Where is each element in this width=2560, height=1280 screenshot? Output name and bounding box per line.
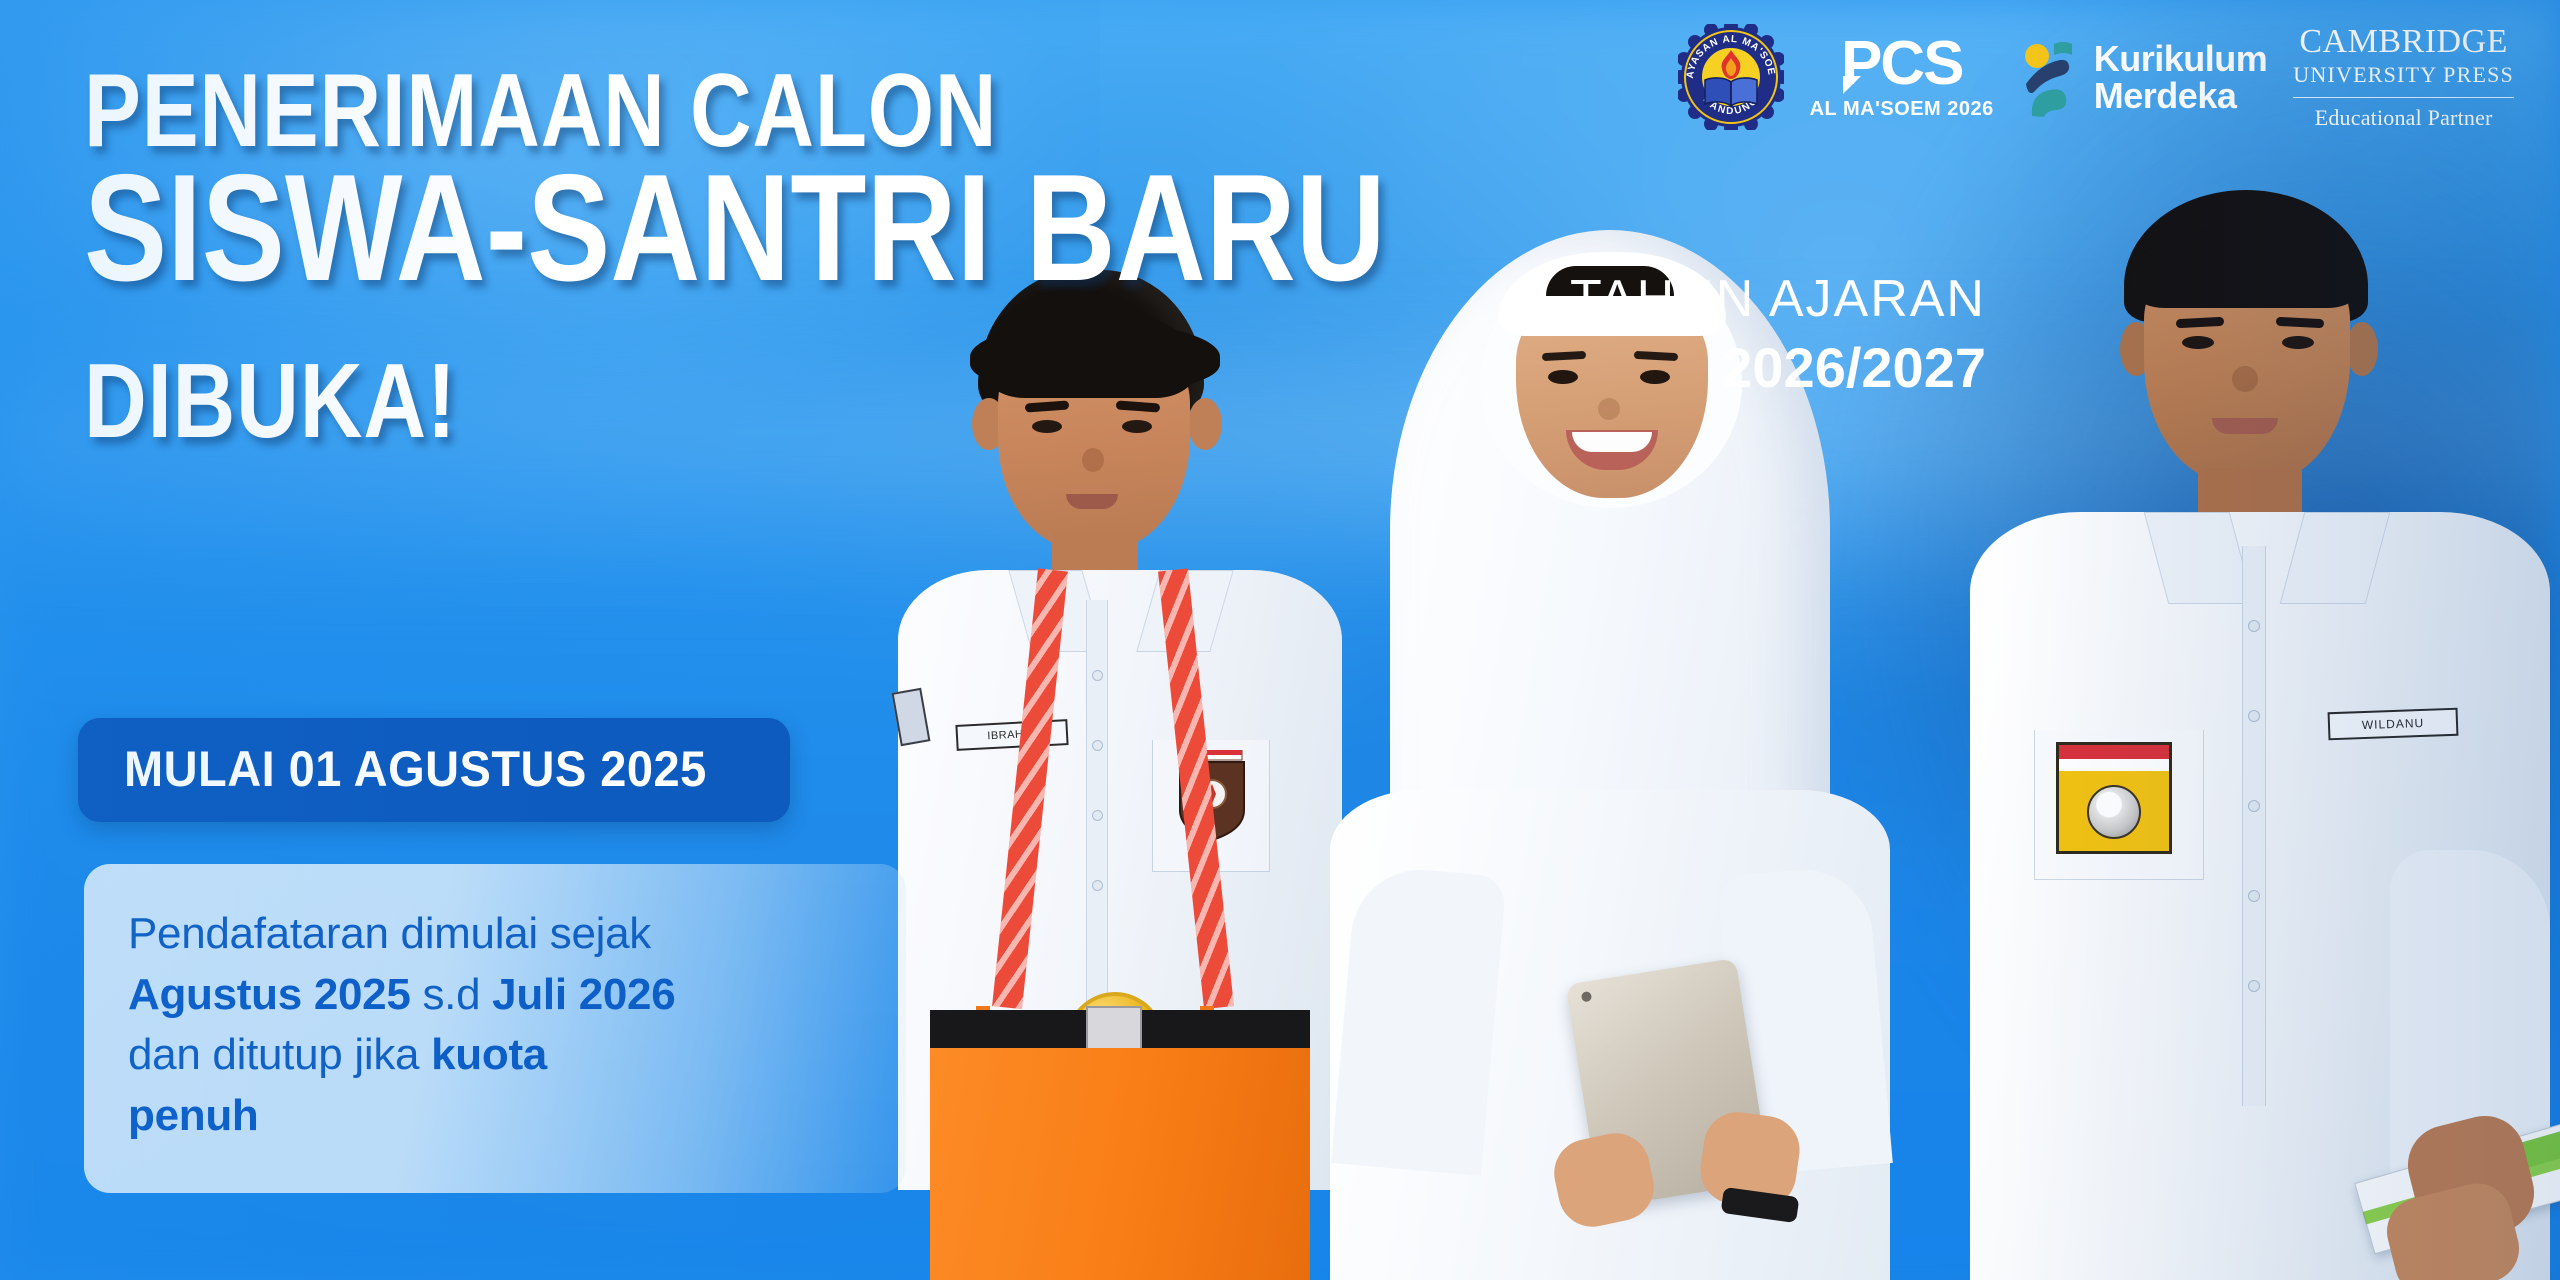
teen-shirt-button (2248, 800, 2260, 812)
teen-nose (2232, 366, 2258, 392)
cambridge-wordmark: CAMBRIDGE (2299, 24, 2508, 60)
partner-logo-bar: YAYASAN AL MA'SOEM BANDUNG PCS (1678, 24, 2514, 131)
boy-belt-buckle (1086, 1006, 1142, 1054)
teen-osis-badge (2056, 742, 2172, 854)
teen-name-tag-text: WILDANU (2330, 710, 2457, 738)
info-bold-kuota: kuota (431, 1030, 547, 1079)
teen-shirt-button (2248, 710, 2260, 722)
academic-year-label: TAHUN AJARAN (1570, 272, 1986, 327)
kurikulum-merdeka-logo: Kurikulum Merdeka (2020, 36, 2268, 118)
start-date-badge[interactable]: MULAI 01 AGUSTUS 2025 (78, 718, 790, 822)
boy-mouth (1066, 494, 1118, 509)
boy-nose (1082, 448, 1104, 472)
academic-year-block: TAHUN AJARAN 2026/2027 (1570, 272, 1986, 400)
registration-info-box: Pendafataran dimulai sejak Agustus 2025 … (84, 864, 906, 1193)
teen-name-tag: WILDANU (2328, 708, 2459, 741)
girl-arm-left (1331, 864, 1507, 1176)
info-bold-juli: Juli 2026 (492, 970, 675, 1019)
teen-hairline-fade (2128, 230, 2364, 308)
cambridge-university-press-logo: CAMBRIDGE UNIVERSITY PRESS Educational P… (2293, 24, 2514, 131)
kurikulum-merdeka-mark-icon (2020, 36, 2082, 118)
teen-mouth (2212, 418, 2278, 434)
promotional-banner: IBRAHIM (0, 0, 2560, 1280)
student-teen-boy-books: WILDANU (1960, 190, 2560, 1280)
registration-info-text: Pendafataran dimulai sejak Agustus 2025 … (128, 904, 862, 1147)
teen-shirt-button (2248, 890, 2260, 902)
pcs-subtitle: AL MA'SOEM 2026 (1810, 99, 1994, 119)
cambridge-subtitle: UNIVERSITY PRESS (2293, 62, 2514, 88)
teen-eye-left (2182, 336, 2214, 349)
teen-osis-badge-stripe-red (2059, 745, 2169, 759)
cambridge-divider (2293, 97, 2514, 98)
info-sd: s.d (411, 970, 493, 1019)
pcs-logo: PCS AL MA'SOEM 2026 (1810, 35, 1994, 119)
boy-shirt-button (1092, 740, 1103, 751)
info-line-1: Pendafataran dimulai sejak (128, 909, 651, 958)
boy-shorts (930, 1048, 1310, 1280)
info-line-3: dan ditutup jika (128, 1030, 431, 1079)
info-bold-penuh: penuh (128, 1091, 258, 1140)
teen-shirt-button (2248, 620, 2260, 632)
teen-osis-badge-crest (2087, 785, 2141, 839)
headline-line-2: SISWA-SANTRI BARU (84, 162, 1386, 296)
academic-year-value: 2026/2027 (1570, 335, 1986, 400)
info-bold-agustus: Agustus 2025 (128, 970, 411, 1019)
headline-line-3: DIBUKA! (84, 355, 1386, 448)
teen-shirt-button (2248, 980, 2260, 992)
teen-osis-badge-stripe-white (2059, 759, 2169, 771)
headline-block: PENERIMAAN CALON SISWA-SANTRI BARU DIBUK… (84, 66, 1672, 449)
yayasan-al-masoem-logo: YAYASAN AL MA'SOEM BANDUNG (1678, 24, 1784, 130)
km-line-2: Merdeka (2094, 77, 2268, 115)
boy-shirt-button (1092, 880, 1103, 891)
speech-bubble-tail-icon (1843, 76, 1865, 98)
teen-eye-right (2282, 336, 2314, 349)
km-line-1: Kurikulum (2094, 40, 2268, 78)
boy-shirt-button (1092, 670, 1103, 681)
kurikulum-merdeka-wordmark: Kurikulum Merdeka (2094, 40, 2268, 116)
start-date-badge-label: MULAI 01 AGUSTUS 2025 (124, 740, 707, 798)
teen-ear-right (2346, 322, 2378, 376)
open-book-icon (1703, 76, 1759, 108)
cambridge-partner-label: Educational Partner (2315, 105, 2493, 131)
boy-shirt-button (1092, 810, 1103, 821)
